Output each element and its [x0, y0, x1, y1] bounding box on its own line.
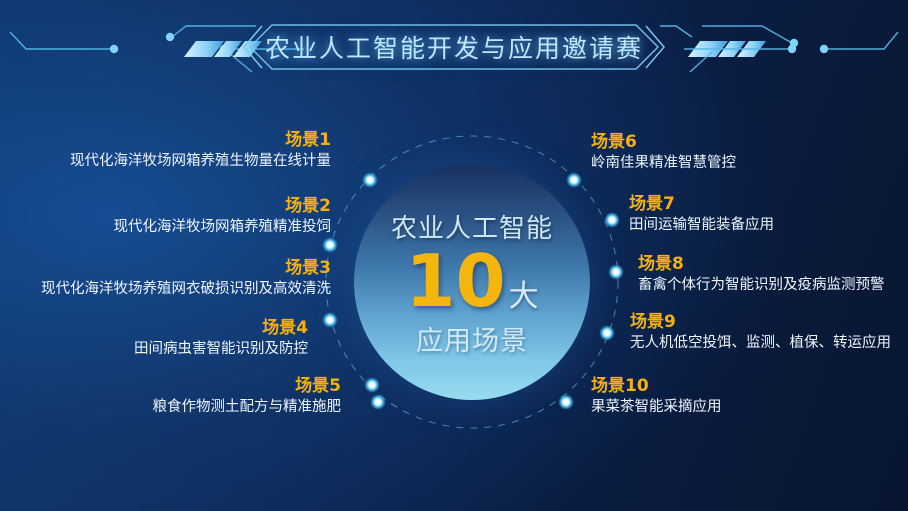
scene-number-2: 场景2 — [114, 196, 332, 217]
orbit-node-9 — [600, 326, 615, 341]
center-number-row: 10 大 — [405, 247, 538, 315]
scene-number-4: 场景4 — [134, 318, 308, 339]
circuit-dot-far-right — [820, 45, 828, 53]
scene-item-8[interactable]: 场景8 畜禽个体行为智能识别及疫病监测预警 — [638, 254, 885, 296]
scene-item-1[interactable]: 场景1 现代化海洋牧场网箱养殖生物量在线计量 — [70, 130, 331, 172]
title-frame — [250, 25, 658, 69]
scene-desc-2: 现代化海洋牧场网箱养殖精准投饲 — [114, 217, 332, 238]
scene-item-10[interactable]: 场景10 果菜茶智能采摘应用 — [591, 376, 722, 418]
scene-number-7: 场景7 — [629, 194, 774, 215]
center-subheading: 应用场景 — [416, 319, 528, 358]
center-circle-text: 农业人工智能 10 大 应用场景 — [354, 164, 590, 400]
scene-desc-10: 果菜茶智能采摘应用 — [591, 397, 722, 418]
header-banner-decoration — [0, 16, 908, 78]
scene-item-7[interactable]: 场景7 田间运输智能装备应用 — [629, 194, 774, 236]
scene-desc-8: 畜禽个体行为智能识别及疫病监测预警 — [638, 275, 885, 296]
scene-desc-6: 岭南佳果精准智慧管控 — [591, 153, 736, 174]
scene-item-9[interactable]: 场景9 无人机低空投饵、监测、植保、转运应用 — [630, 312, 891, 354]
circuit-dot-right-lower — [788, 45, 796, 53]
circuit-line-right-inner — [660, 26, 792, 72]
circuit-dot-far-left — [110, 45, 118, 53]
scene-desc-4: 田间病虫害智能识别及防控 — [134, 339, 308, 360]
slide-canvas: 农业人工智能开发与应用邀请赛 农业人工智 — [0, 0, 908, 511]
scene-item-2[interactable]: 场景2 现代化海洋牧场网箱养殖精准投饲 — [114, 196, 332, 238]
orbit-node-2 — [323, 238, 338, 253]
orbit-node-3 — [323, 313, 338, 328]
scene-item-6[interactable]: 场景6 岭南佳果精准智慧管控 — [591, 132, 736, 174]
center-unit: 大 — [509, 271, 539, 315]
circuit-dot-left-upper — [166, 33, 174, 41]
orbit-node-7 — [605, 213, 620, 228]
scene-desc-1: 现代化海洋牧场网箱养殖生物量在线计量 — [70, 151, 331, 172]
orbit-node-8 — [609, 265, 624, 280]
scene-number-6: 场景6 — [591, 132, 736, 153]
scene-number-9: 场景9 — [630, 312, 891, 333]
scene-desc-7: 田间运输智能装备应用 — [629, 215, 774, 236]
circuit-line-far-left — [10, 32, 112, 49]
chevron-right — [646, 26, 664, 68]
scene-desc-9: 无人机低空投饵、监测、植保、转运应用 — [630, 333, 891, 354]
scene-number-3: 场景3 — [41, 258, 331, 279]
scene-desc-3: 现代化海洋牧场养殖网衣破损识别及高效清洗 — [41, 279, 331, 300]
scene-number-1: 场景1 — [70, 130, 331, 151]
scene-item-3[interactable]: 场景3 现代化海洋牧场养殖网衣破损识别及高效清洗 — [41, 258, 331, 300]
scene-item-5[interactable]: 场景5 粮食作物测土配方与精准施肥 — [153, 376, 342, 418]
scene-number-5: 场景5 — [153, 376, 342, 397]
circuit-line-far-right — [826, 32, 898, 49]
scene-item-4[interactable]: 场景4 田间病虫害智能识别及防控 — [134, 318, 308, 360]
scene-desc-5: 粮食作物测土配方与精准施肥 — [153, 397, 342, 418]
scene-number-10: 场景10 — [591, 376, 722, 397]
center-number: 10 — [405, 247, 505, 315]
scene-number-8: 场景8 — [638, 254, 885, 275]
